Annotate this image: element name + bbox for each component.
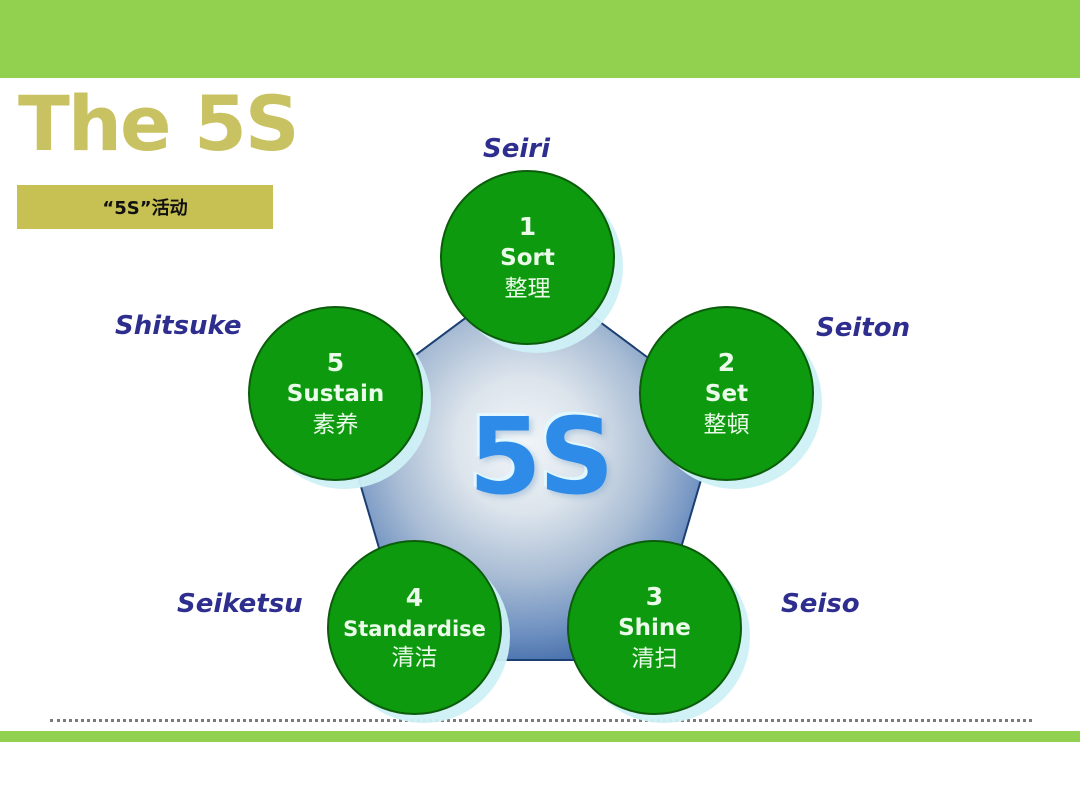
node-shine[interactable]: 3 Shine 清扫 [567,540,742,715]
node-sort[interactable]: 1 Sort 整理 [440,170,615,345]
node-shine-number: 3 [646,584,663,610]
node-standardise-english: Standardise [343,618,486,640]
romaji-label-seiketsu: Seiketsu [177,589,303,619]
node-sustain-number: 5 [327,350,344,376]
node-sustain[interactable]: 5 Sustain 素养 [248,306,423,481]
node-standardise[interactable]: 4 Standardise 清洁 [327,540,502,715]
node-set-english: Set [705,382,748,406]
romaji-label-seiso: Seiso [781,589,860,619]
node-sort-number: 1 [519,214,536,240]
node-set-chinese: 整頓 [704,413,750,437]
romaji-label-seiri: Seiri [483,134,550,164]
node-shine-english: Shine [618,616,691,640]
node-sustain-english: Sustain [287,382,384,406]
node-set[interactable]: 2 Set 整頓 [639,306,814,481]
node-sustain-chinese: 素养 [313,413,359,437]
node-standardise-chinese: 清洁 [392,646,438,670]
node-shine-chinese: 清扫 [632,647,678,671]
node-sort-english: Sort [500,246,555,270]
five-s-diagram: 5S 1 Sort 整理 2 Set 整頓 3 Shine 清扫 4 Stand… [0,0,1080,810]
romaji-label-seiton: Seiton [816,313,910,343]
node-standardise-number: 4 [406,585,423,611]
node-set-number: 2 [718,350,735,376]
romaji-label-shitsuke: Shitsuke [115,311,242,341]
node-sort-chinese: 整理 [505,277,551,301]
